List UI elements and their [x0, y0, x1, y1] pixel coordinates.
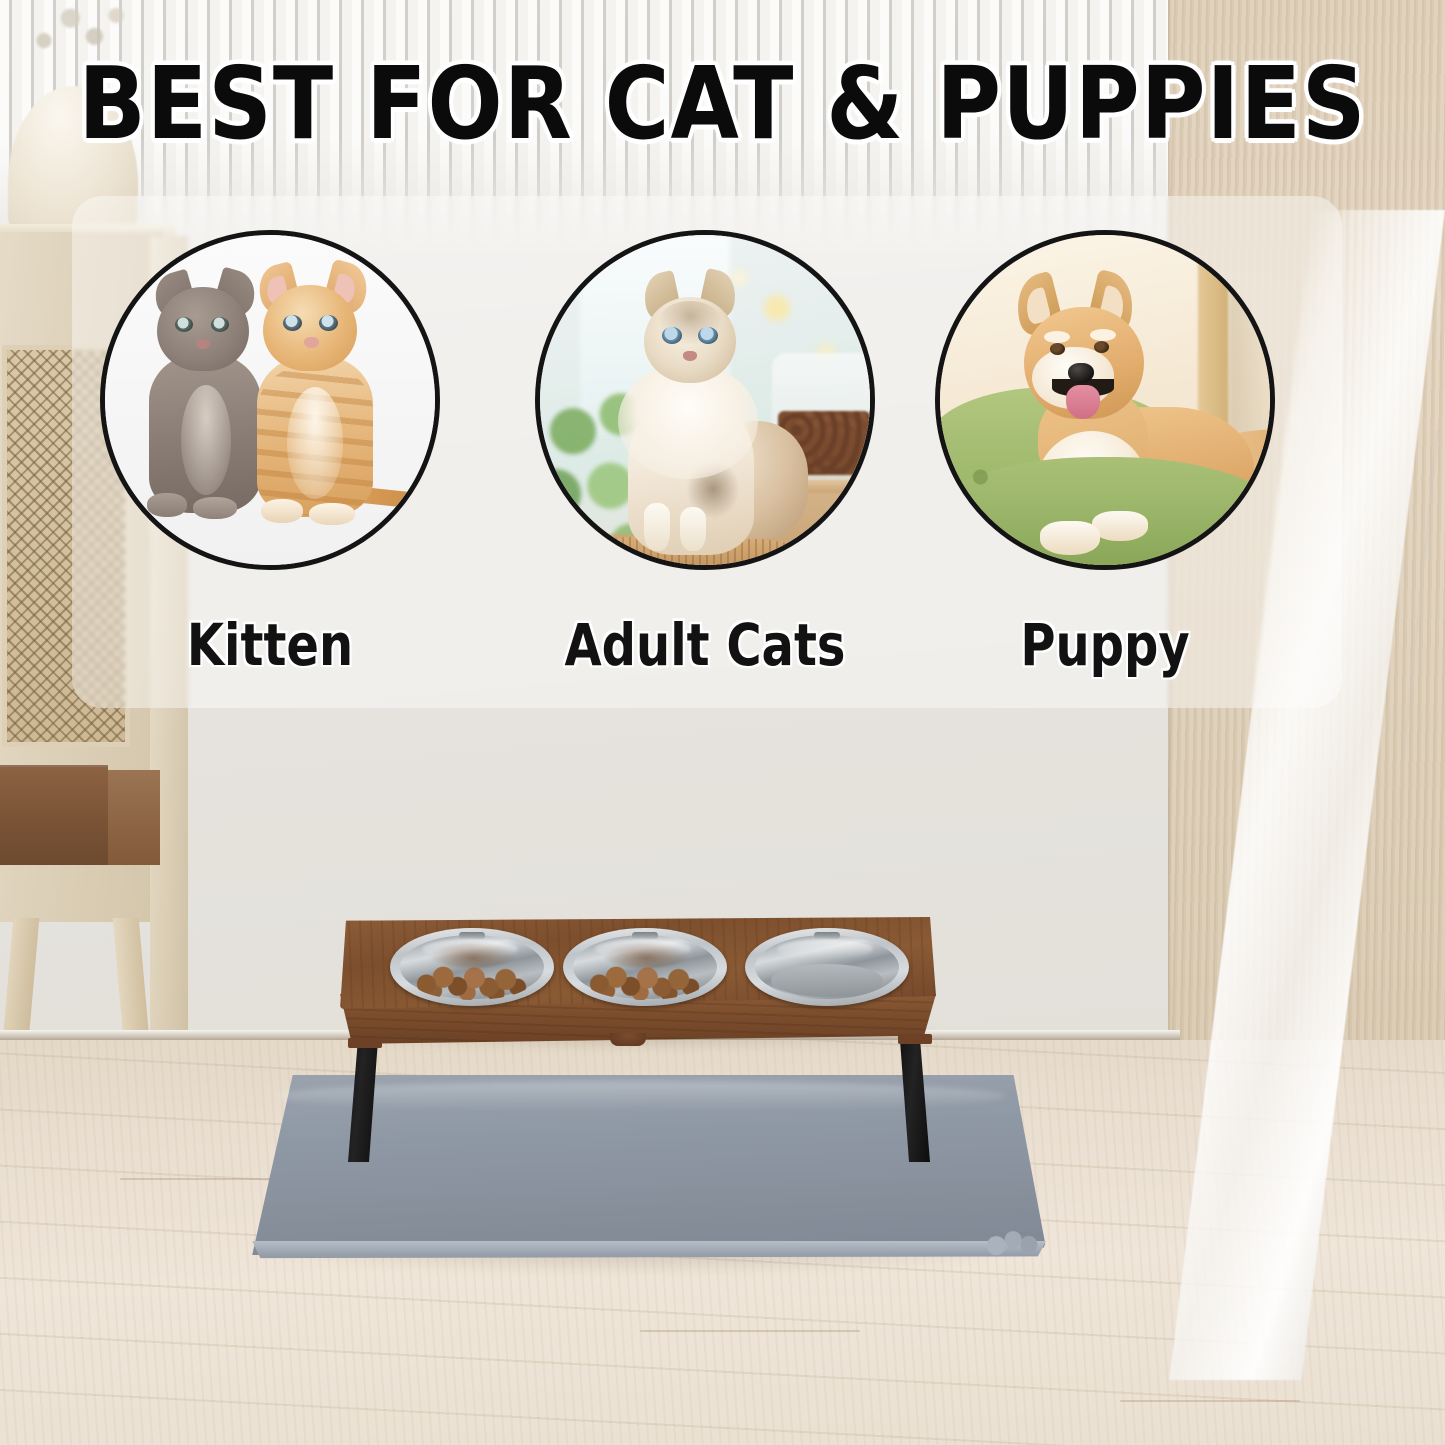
pet-label-kitten: Kitten	[100, 612, 440, 679]
page-title: BEST FOR CAT & PUPPIES	[0, 46, 1445, 163]
pet-circle-kitten[interactable]	[100, 230, 440, 570]
product-marketing-image: BEST FOR CAT & PUPPIES	[0, 0, 1445, 1445]
cabinet-drawer-side	[108, 770, 160, 865]
pet-label-puppy: Puppy	[935, 612, 1275, 679]
floor-seam-detail	[1120, 1400, 1300, 1402]
shiba-inu-photo-icon	[940, 235, 1270, 565]
pet-circle-puppy[interactable]	[935, 230, 1275, 570]
pet-label-adult-cats: Adult Cats	[535, 612, 875, 679]
cabinet-drawer	[0, 765, 108, 865]
fluffy-cat-photo-icon	[540, 235, 870, 565]
pet-circle-adult-cats[interactable]	[535, 230, 875, 570]
floor-seam-detail	[120, 1178, 420, 1180]
two-kittens-photo-icon	[105, 235, 435, 565]
floor-seam-detail	[640, 1330, 860, 1332]
